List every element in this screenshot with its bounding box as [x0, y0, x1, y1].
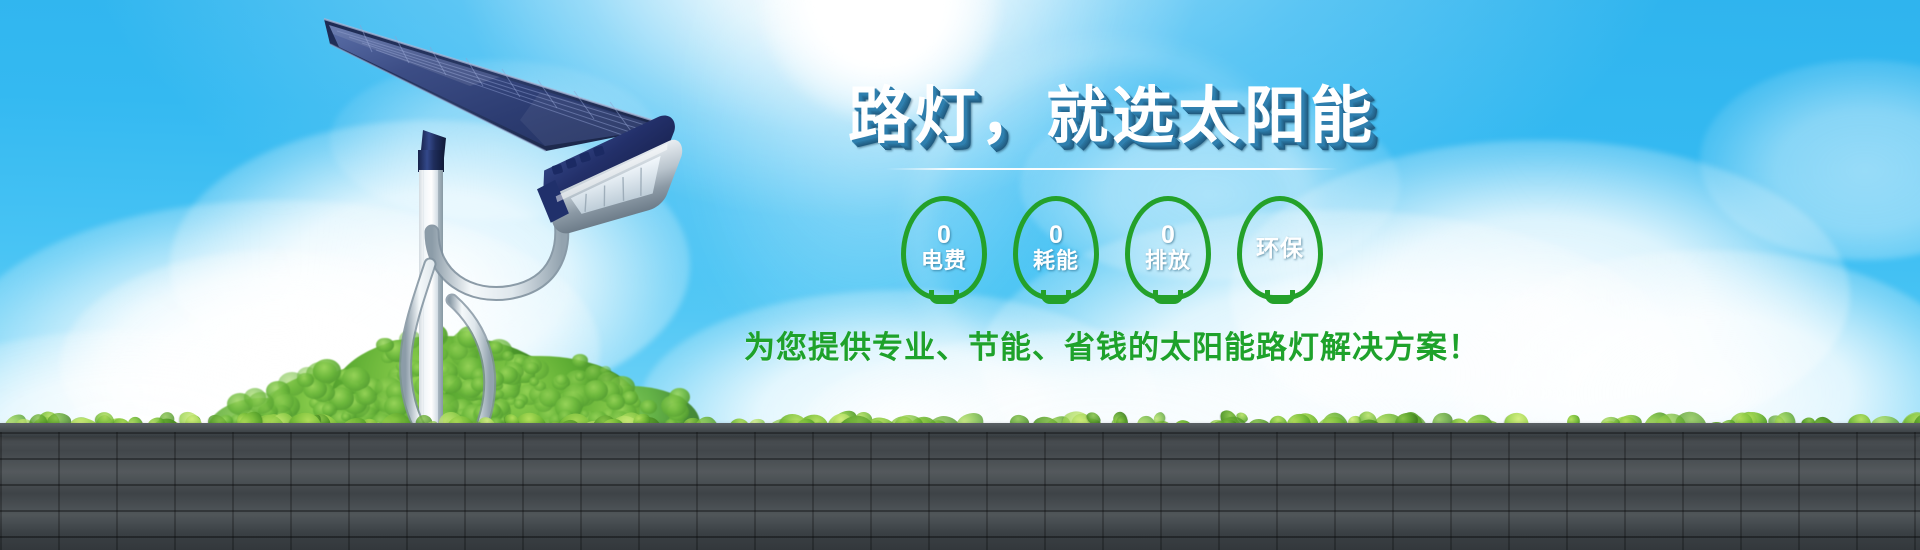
badge-zero-value: 0 — [937, 223, 951, 248]
feature-badge-huanbao[interactable]: 环保 — [1237, 196, 1323, 300]
badge-label: 耗能 — [1033, 249, 1079, 272]
feature-badge-dianfei[interactable]: 0 电费 — [901, 196, 987, 300]
badge-zero-value: 0 — [1161, 223, 1175, 248]
feature-badge-haoneng[interactable]: 0 耗能 — [1013, 196, 1099, 300]
banner-tagline: 为您提供专业、节能、省钱的太阳能路灯解决方案！ — [742, 322, 1482, 367]
page-title: 路灯，就选太阳能 — [742, 86, 1482, 148]
badge-label: 排放 — [1145, 249, 1191, 272]
headline-divider — [886, 168, 1338, 170]
feature-badge-list: 0 电费 0 耗能 0 排放 环保 — [742, 196, 1482, 300]
solar-lamp-banner: 路灯，就选太阳能 0 电费 0 耗能 0 排放 环保 — [0, 0, 1920, 550]
feature-badge-paifang[interactable]: 0 排放 — [1125, 196, 1211, 300]
garden-wall — [0, 432, 1920, 550]
wall-cap — [0, 423, 1920, 437]
banner-text-block: 路灯，就选太阳能 0 电费 0 耗能 0 排放 环保 — [742, 86, 1482, 367]
solar-panel-icon — [200, 19, 672, 152]
badge-zero-value: 0 — [1049, 223, 1063, 248]
badge-label: 电费 — [921, 249, 967, 272]
badge-label: 环保 — [1256, 236, 1304, 260]
